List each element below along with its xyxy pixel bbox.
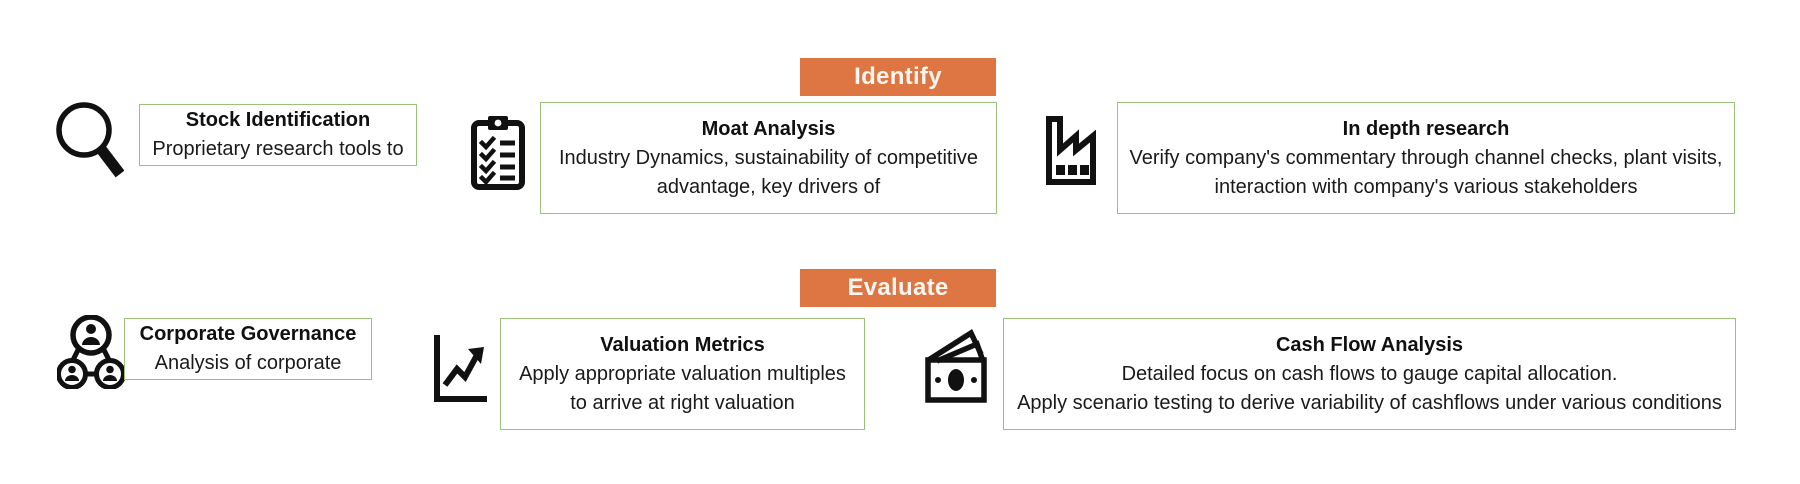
card-valuation-metrics: Valuation Metrics Apply appropriate valu…	[500, 318, 865, 430]
magnifier-icon	[52, 100, 124, 178]
card-body-line: to arrive at right valuation	[570, 389, 795, 418]
card-in-depth-research: In depth research Verify company's comme…	[1117, 102, 1735, 214]
section-banner-evaluate: Evaluate	[800, 269, 996, 307]
section-banner-identify: Identify	[800, 58, 996, 96]
card-body-line: advantage, key drivers of	[657, 173, 880, 202]
card-body-line: Apply appropriate valuation multiples	[519, 360, 846, 389]
card-title: Corporate Governance	[140, 320, 357, 349]
card-title: Moat Analysis	[702, 115, 836, 144]
card-body-line: Verify company's commentary through chan…	[1130, 144, 1723, 173]
people-network-icon	[57, 315, 125, 389]
process-diagram: Identify Stock Identification Proprietar…	[0, 0, 1800, 484]
clipboard-checklist-icon	[470, 115, 526, 191]
card-cash-flow-analysis: Cash Flow Analysis Detailed focus on cas…	[1003, 318, 1736, 430]
card-title: Valuation Metrics	[600, 331, 765, 360]
card-title: In depth research	[1343, 115, 1510, 144]
card-moat-analysis: Moat Analysis Industry Dynamics, sustain…	[540, 102, 997, 214]
card-corporate-governance: Corporate Governance Analysis of corpora…	[124, 318, 372, 380]
card-body-line: Apply scenario testing to derive variabi…	[1017, 389, 1722, 418]
card-body-line: interaction with company's various stake…	[1215, 173, 1638, 202]
card-title: Stock Identification	[186, 106, 370, 135]
card-stock-identification: Stock Identification Proprietary researc…	[139, 104, 417, 166]
banknote-icon	[925, 327, 1001, 403]
card-body-line: Industry Dynamics, sustainability of com…	[559, 144, 978, 173]
card-body-line: Analysis of corporate	[155, 349, 342, 378]
factory-icon	[1046, 116, 1102, 188]
card-body-line: Proprietary research tools to	[152, 135, 403, 164]
card-body-line: Detailed focus on cash flows to gauge ca…	[1122, 360, 1618, 389]
card-title: Cash Flow Analysis	[1276, 331, 1463, 360]
growth-chart-icon	[432, 333, 490, 405]
